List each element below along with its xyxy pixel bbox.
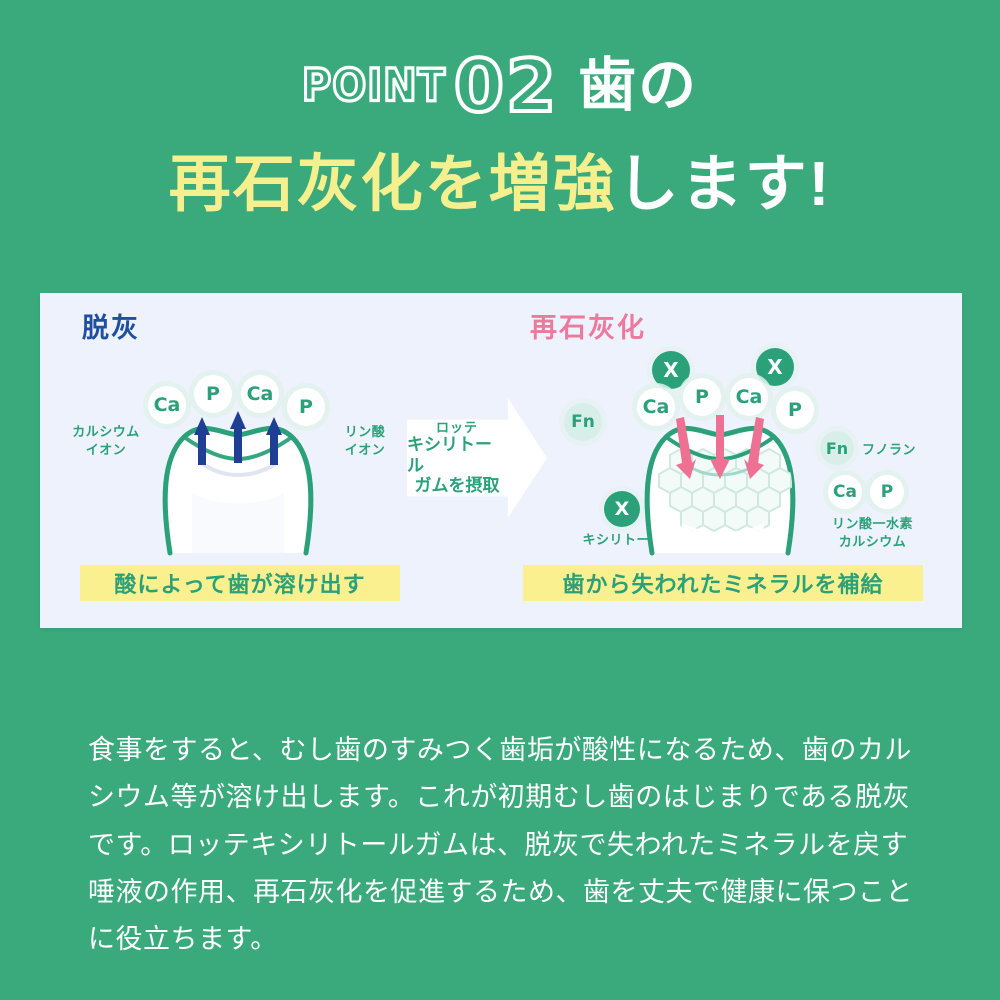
label-calcium-ion-line2: イオン xyxy=(56,441,156,459)
arrow-up-2 xyxy=(230,411,246,463)
arrow-down-1 xyxy=(676,417,696,479)
panel-title-remineralization: 再石灰化 xyxy=(530,315,646,342)
atom-label: X xyxy=(663,358,678,382)
process-arrow-line1: ロッテ xyxy=(436,420,478,436)
atom-label: Fn xyxy=(826,439,848,458)
point-label: POINT xyxy=(302,64,446,109)
banner-remineralization: 歯から失われたミネラルを補給 xyxy=(523,565,923,601)
process-arrow: ロッテ キシリトール ガムを摂取 xyxy=(407,398,547,518)
atom-x-legend: X xyxy=(604,491,640,527)
atom-x-top-right: X xyxy=(756,348,794,386)
legend-fn-text: フノラン xyxy=(862,441,916,459)
label-phosphate-ion-line1: リン酸 xyxy=(330,423,400,441)
process-arrow-line3: ガムを摂取 xyxy=(415,476,500,496)
legend-phos-line1: リン酸一水素 xyxy=(810,515,935,533)
tooth-illustration-remineralized xyxy=(640,403,800,558)
page-root: POINT 02 歯の 再石灰化を増強します! 脱灰 再石灰化 カルシウム イオ… xyxy=(0,0,1000,1000)
atom-label: P xyxy=(881,482,893,502)
point-number: 02 xyxy=(454,50,558,122)
label-phosphate-ion: リン酸 イオン xyxy=(330,423,400,458)
heading-rest: します! xyxy=(617,150,832,219)
legend-phos-p-circle: P xyxy=(870,475,904,509)
tooth-illustration-demineralized xyxy=(158,403,318,558)
label-phosphate-ion-line2: イオン xyxy=(330,441,400,459)
panel-title-demineralization: 脱灰 xyxy=(82,315,140,342)
arrow-up-1 xyxy=(194,417,210,465)
atom-label: X xyxy=(615,498,630,520)
arrow-up-3 xyxy=(266,417,282,465)
atom-fn-free: Fn xyxy=(564,403,602,441)
heading-line-2: 再石灰化を増強します! xyxy=(0,152,1000,219)
process-arrow-line2: キシリトール xyxy=(407,435,507,476)
legend-phos-ca-circle: Ca xyxy=(828,475,862,509)
atom-label: Ca xyxy=(833,482,857,502)
legend-fn-symbol-circle: Fn xyxy=(820,431,854,465)
arrows-down-group xyxy=(640,383,800,538)
legend-phosphate-calcium-label: リン酸一水素 カルシウム xyxy=(810,515,935,550)
arrows-up-group xyxy=(158,381,318,536)
arrow-down-2 xyxy=(710,415,730,479)
label-calcium-ion: カルシウム イオン xyxy=(56,423,156,458)
body-paragraph: 食事をすると、むし歯のすみつく歯垢が酸性になるため、歯のカルシウム等が溶け出しま… xyxy=(88,727,928,963)
page-heading: POINT 02 歯の 再石灰化を増強します! xyxy=(0,46,1000,219)
heading-line-1: POINT 02 歯の xyxy=(0,46,1000,126)
diagram-panel: 脱灰 再石灰化 カルシウム イオン リン酸 イオン Ca P Ca P xyxy=(40,293,962,628)
heading-japanese-part1: 歯の xyxy=(578,57,698,115)
heading-highlight: 再石灰化を増強 xyxy=(169,150,617,219)
legend-phos-line2: カルシウム xyxy=(810,533,935,551)
atom-label: Fn xyxy=(571,412,595,432)
arrow-down-3 xyxy=(744,417,764,479)
process-arrow-text: ロッテ キシリトール ガムを摂取 xyxy=(407,398,507,518)
atom-label: X xyxy=(767,355,782,379)
label-calcium-ion-line1: カルシウム xyxy=(56,423,156,441)
banner-demineralization: 酸によって歯が溶け出す xyxy=(80,565,400,601)
